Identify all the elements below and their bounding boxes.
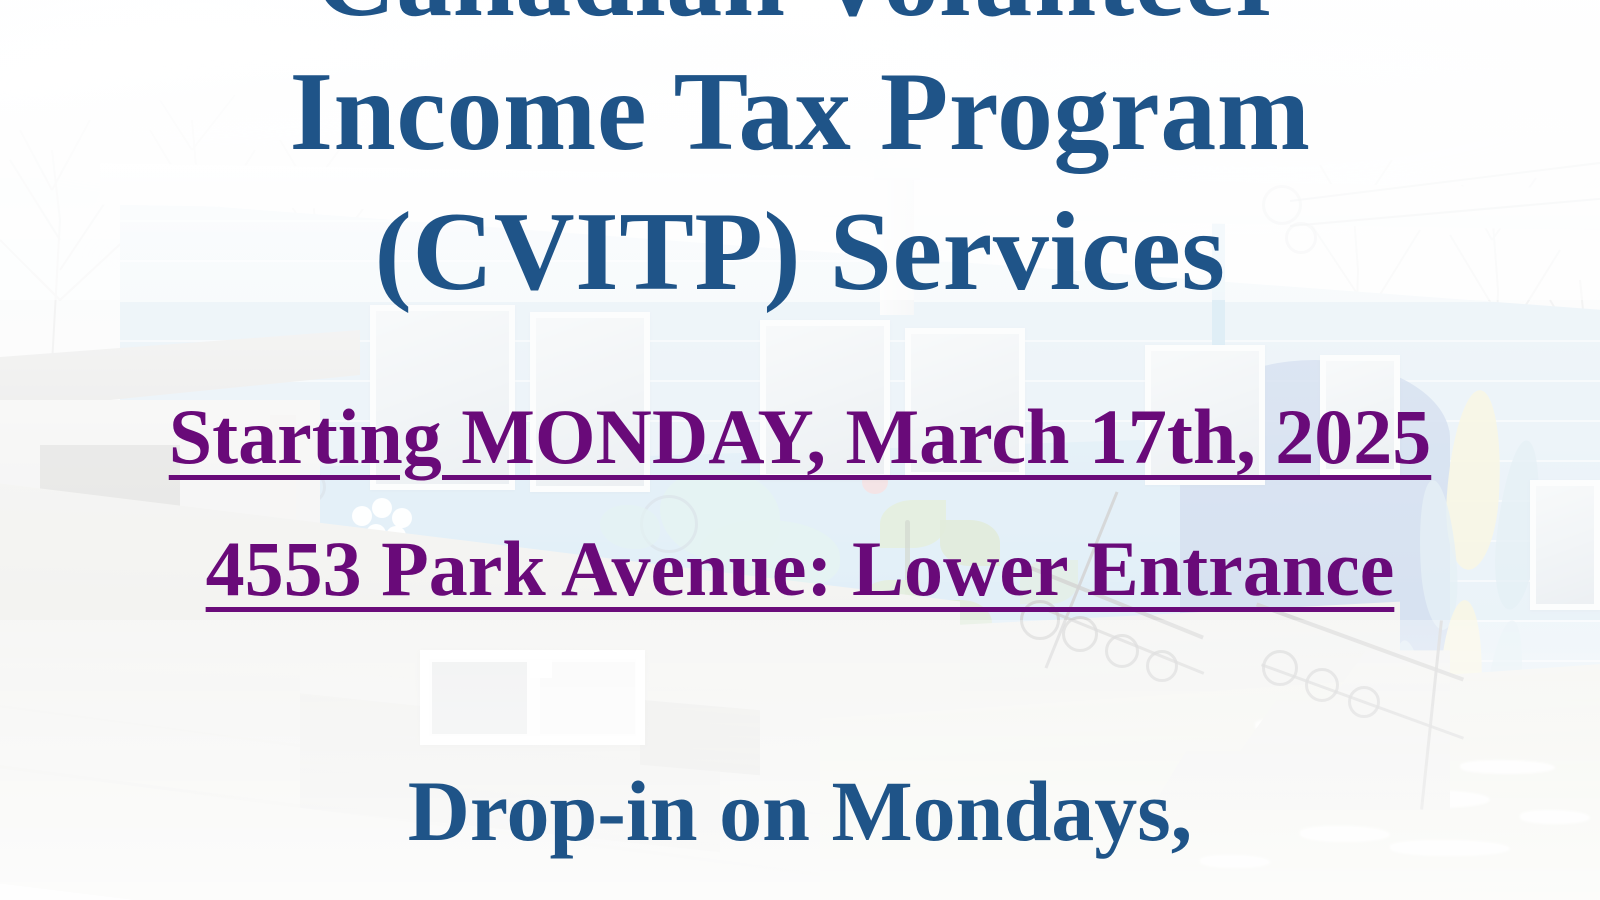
address-line: 4553 Park Avenue: Lower Entrance — [0, 530, 1600, 608]
start-date-line: Starting MONDAY, March 17th, 2025 — [0, 398, 1600, 476]
headline-line-3: (CVITP) Services — [0, 196, 1600, 308]
poster-canvas: Canadian Volunteer Income Tax Program (C… — [0, 0, 1600, 900]
start-date-text: Starting MONDAY, March 17th, 2025 — [169, 393, 1431, 480]
headline-line-1: Canadian Volunteer — [0, 0, 1600, 34]
headline-line-2: Income Tax Program — [0, 56, 1600, 168]
poster-text-layer: Canadian Volunteer Income Tax Program (C… — [0, 0, 1600, 900]
address-text: 4553 Park Avenue: Lower Entrance — [206, 525, 1395, 612]
drop-in-line: Drop-in on Mondays, — [0, 768, 1600, 854]
